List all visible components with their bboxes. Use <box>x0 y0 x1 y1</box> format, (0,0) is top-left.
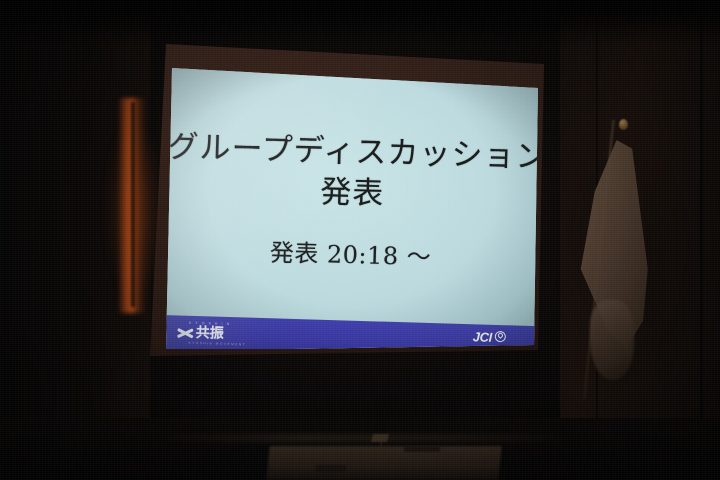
ceiling-shadow <box>0 0 720 46</box>
projection-screen-surface: グループディスカッション 発表 発表 20:18 〜 K Y O S H I N… <box>166 57 538 349</box>
slide-content: グループディスカッション 発表 発表 20:18 〜 <box>166 57 538 349</box>
table-object-a <box>404 446 440 452</box>
x-cross-mark-icon <box>177 325 194 339</box>
slide-subtitle-time: 発表 20:18 〜 <box>166 237 537 274</box>
location-pin-icon <box>495 331 507 344</box>
jci-logo-row: JCI <box>435 329 507 344</box>
jci-logo-wordmark: JCI <box>473 330 492 344</box>
table-paper-item <box>371 434 389 442</box>
flag-cloth-fold <box>590 300 634 380</box>
kyoshin-logo-main: 共振 <box>177 325 261 341</box>
table-back-edge <box>150 434 580 442</box>
projection-room-scene: グループディスカッション 発表 発表 20:18 〜 K Y O S H I N… <box>0 0 720 480</box>
kyoshin-logo: K Y O S H I N 共振 KYOSHIN MOVEMENT <box>176 319 261 349</box>
kyoshin-logo-kanji: 共振 <box>196 326 224 341</box>
table-object-b <box>316 465 346 472</box>
kyoshin-logo-subtext: KYOSHIN MOVEMENT <box>188 340 260 348</box>
amber-light-core <box>131 102 135 307</box>
foreground-table <box>266 446 502 480</box>
wall-seam-right <box>700 0 703 480</box>
flag-finial-icon <box>619 119 628 130</box>
